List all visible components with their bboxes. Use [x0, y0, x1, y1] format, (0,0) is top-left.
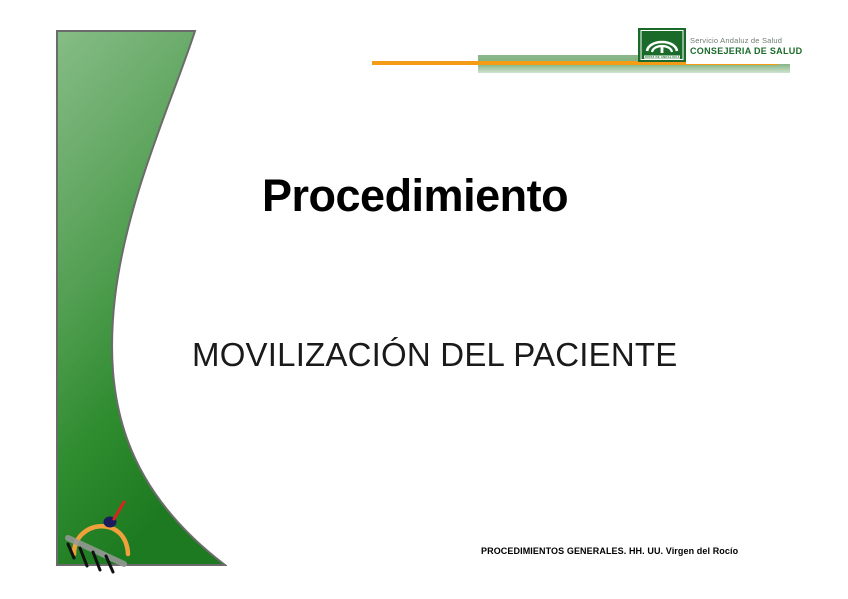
- logo-text-block: Servicio Andaluz de Salud CONSEJERIA DE …: [686, 28, 802, 64]
- page-subtitle: MOVILIZACIÓN DEL PACIENTE: [192, 336, 677, 374]
- junta-andalucia-logo: JUNTA DE ANDALUCIA Servicio Andaluz de S…: [638, 28, 793, 64]
- slide-footer: PROCEDIMIENTOS GENERALES. HH. UU. Virgen…: [481, 546, 738, 556]
- presentation-slide: JUNTA DE ANDALUCIA Servicio Andaluz de S…: [0, 0, 848, 599]
- page-title: Procedimiento: [262, 170, 568, 222]
- logo-line-consejeria: CONSEJERIA DE SALUD: [690, 46, 802, 57]
- svg-text:JUNTA DE ANDALUCIA: JUNTA DE ANDALUCIA: [644, 55, 679, 59]
- junta-de-andalucia-arch-emblem: JUNTA DE ANDALUCIA: [638, 28, 686, 62]
- logo-line-servicio: Servicio Andaluz de Salud: [690, 36, 802, 46]
- green-curved-sidebar: [55, 29, 227, 571]
